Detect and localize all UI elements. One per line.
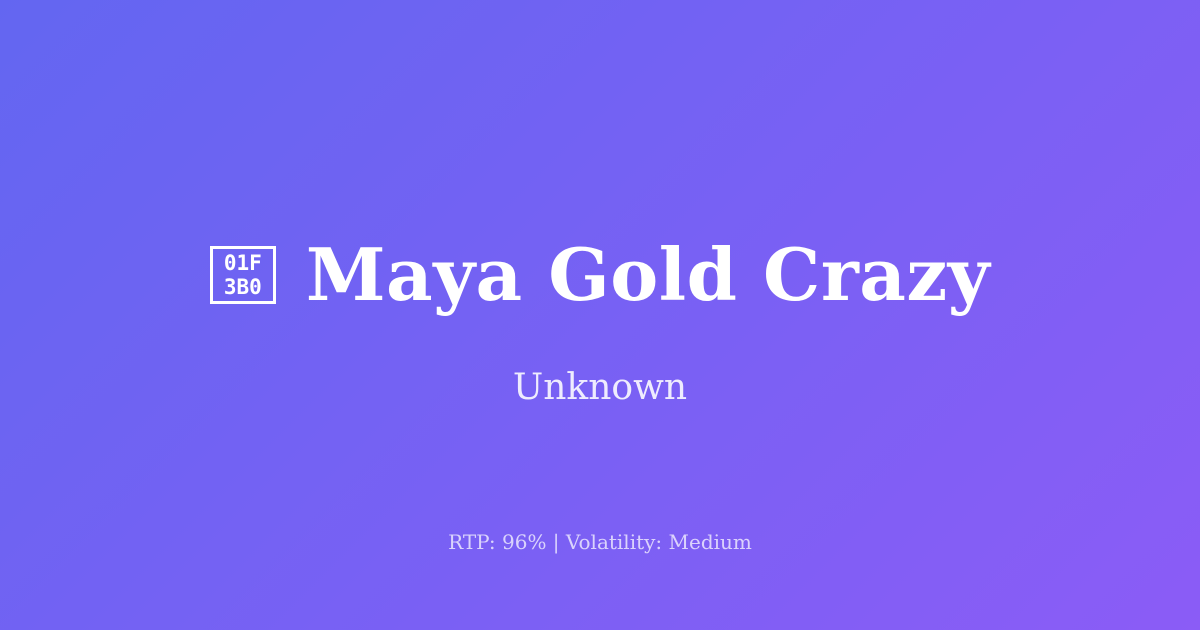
title-block: 01F 3B0 Maya Gold Crazy (0, 229, 1200, 321)
codepoint-line-1: 01F (224, 251, 262, 275)
codepoint-line-2: 3B0 (224, 275, 262, 299)
game-stats-line: RTP: 96% | Volatility: Medium (0, 529, 1200, 556)
slot-machine-icon: 01F 3B0 (210, 246, 276, 304)
page-title: Maya Gold Crazy (306, 229, 990, 321)
game-provider-label: Unknown (0, 365, 1200, 411)
game-og-card: 01F 3B0 Maya Gold Crazy Unknown RTP: 96%… (0, 0, 1200, 630)
